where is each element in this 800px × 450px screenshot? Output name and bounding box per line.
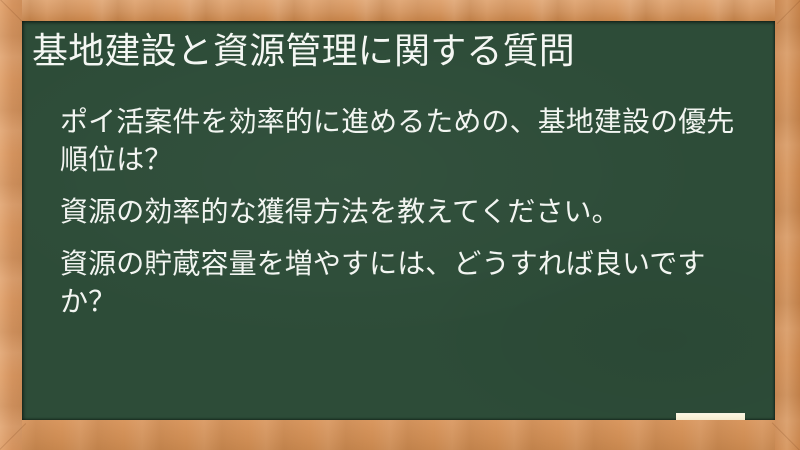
list-item: ポイ活案件を効率的に進めるための、基地建設の優先順位は？ <box>60 103 750 179</box>
frame-rail-right <box>775 0 800 450</box>
list-item: 資源の貯蔵容量を増やすには、どうすれば良いですか？ <box>60 245 750 321</box>
frame-rail-left <box>0 0 22 450</box>
question-list: ポイ活案件を効率的に進めるための、基地建設の優先順位は？ 資源の効率的な獲得方法… <box>60 103 750 321</box>
frame-rail-top <box>0 0 800 21</box>
frame-rail-bottom <box>0 420 800 450</box>
chalkboard-slide: 基地建設と資源管理に関する質問 ポイ活案件を効率的に進めるための、基地建設の優先… <box>0 0 800 450</box>
page-title: 基地建設と資源管理に関する質問 <box>32 29 752 75</box>
chalk-eraser-icon <box>676 413 745 420</box>
chalkboard-surface: 基地建設と資源管理に関する質問 ポイ活案件を効率的に進めるための、基地建設の優先… <box>22 21 775 420</box>
list-item: 資源の効率的な獲得方法を教えてください。 <box>60 193 750 231</box>
